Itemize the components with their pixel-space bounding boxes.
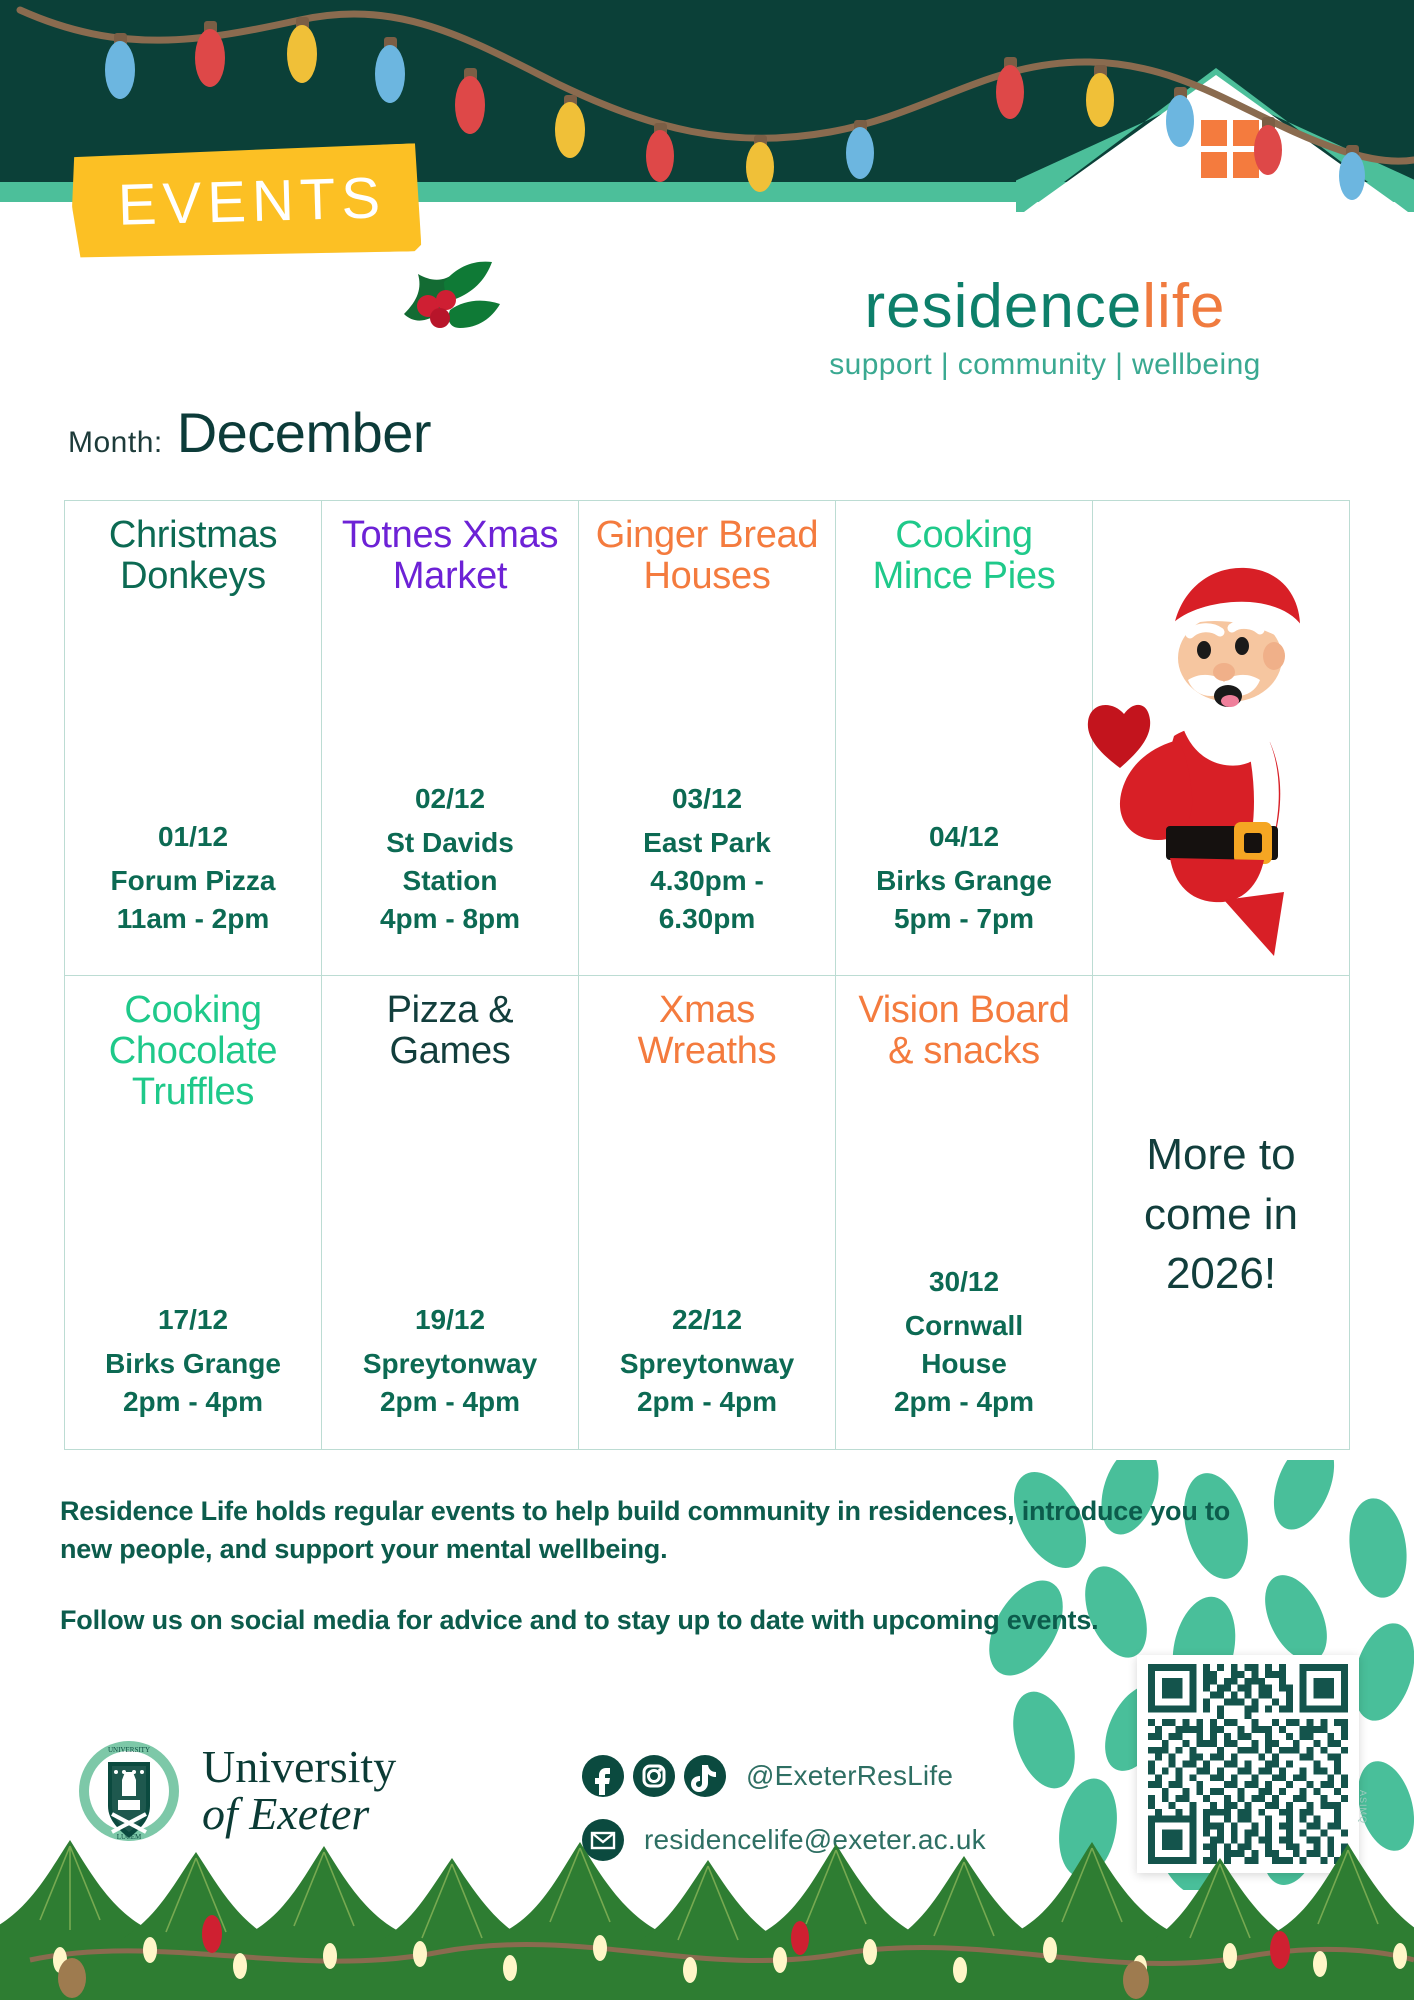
social-handle-row: @ExeterResLife [582, 1755, 986, 1797]
event-location: St Davids [386, 827, 514, 858]
event-details: 19/12 Spreytonway 2pm - 4pm [363, 1301, 537, 1439]
svg-text:UNIVERSITY: UNIVERSITY [108, 1746, 150, 1754]
month-value: December [177, 400, 431, 465]
event-location: Cornwall [905, 1310, 1023, 1341]
event-details: 22/12 Spreytonway 2pm - 4pm [620, 1301, 794, 1439]
event-location-2: Station [403, 865, 498, 896]
event-cell[interactable]: Ginger Bread Houses 03/12 East Park 4.30… [579, 501, 836, 975]
event-details: 02/12 St Davids Station 4pm - 8pm [380, 780, 520, 964]
social-icons [582, 1755, 726, 1797]
santa-icon [1078, 540, 1328, 960]
event-time: 4.30pm - [650, 865, 764, 896]
event-time-2: 6.30pm [659, 903, 756, 934]
event-time: 2pm - 4pm [380, 1386, 520, 1417]
more-to-come-cell: More to come in 2026! [1093, 976, 1349, 1450]
social-handle[interactable]: @ExeterResLife [746, 1760, 953, 1792]
more-to-come-text: More to come in 2026! [1101, 1125, 1341, 1303]
event-date: 02/12 [380, 780, 520, 818]
event-cell[interactable]: Vision Board & snacks 30/12 Cornwall Hou… [836, 976, 1093, 1450]
holly-icon [388, 252, 508, 362]
event-title: Totnes Xmas Market [330, 515, 570, 597]
event-time: 4pm - 8pm [380, 903, 520, 934]
blurb-paragraph-2: Follow us on social media for advice and… [60, 1601, 1250, 1639]
event-cell[interactable]: Cooking Chocolate Truffles 17/12 Birks G… [65, 976, 322, 1450]
event-details: 17/12 Birks Grange 2pm - 4pm [105, 1301, 281, 1439]
logo-residence-text: residence [864, 272, 1142, 341]
facebook-icon[interactable] [582, 1755, 624, 1797]
residence-life-logo: residencelife support | community | well… [760, 276, 1330, 382]
event-details: 30/12 Cornwall House 2pm - 4pm [894, 1263, 1034, 1439]
event-title: Pizza & Games [330, 990, 570, 1072]
event-title: Cooking Mince Pies [844, 515, 1084, 597]
event-location: Forum Pizza [111, 865, 276, 896]
event-date: 19/12 [363, 1301, 537, 1339]
event-cell[interactable]: Cooking Mince Pies 04/12 Birks Grange 5p… [836, 501, 1093, 975]
event-title: Cooking Chocolate Truffles [73, 990, 313, 1113]
event-location: Spreytonway [363, 1348, 537, 1379]
event-details: 01/12 Forum Pizza 11am - 2pm [111, 818, 276, 964]
event-date: 30/12 [894, 1263, 1034, 1301]
event-date: 01/12 [111, 818, 276, 856]
event-cell[interactable]: Xmas Wreaths 22/12 Spreytonway 2pm - 4pm [579, 976, 836, 1450]
events-title: EVENTS [91, 158, 413, 247]
blurb-text: Residence Life holds regular events to h… [60, 1492, 1250, 1639]
event-details: 04/12 Birks Grange 5pm - 7pm [876, 818, 1052, 964]
event-date: 22/12 [620, 1301, 794, 1339]
event-time: 11am - 2pm [117, 903, 270, 934]
month-label: Month: [68, 426, 163, 460]
event-date: 17/12 [105, 1301, 281, 1339]
pine-garland-icon [0, 1810, 1414, 2000]
month-row: Month: December [68, 400, 431, 465]
event-location: Birks Grange [876, 865, 1052, 896]
poster-root: EVENTS Month: December residencelife sup… [0, 0, 1414, 2000]
blurb-paragraph-1: Residence Life holds regular events to h… [60, 1492, 1250, 1569]
event-location: Spreytonway [620, 1348, 794, 1379]
event-date: 04/12 [876, 818, 1052, 856]
event-location-2: House [921, 1348, 1007, 1379]
event-cell[interactable]: Pizza & Games 19/12 Spreytonway 2pm - 4p… [322, 976, 579, 1450]
event-title: Christmas Donkeys [73, 515, 313, 597]
table-row: Cooking Chocolate Truffles 17/12 Birks G… [65, 976, 1349, 1450]
tiktok-icon[interactable] [684, 1755, 726, 1797]
logo-life-text: life [1142, 272, 1225, 341]
event-title: Vision Board & snacks [844, 990, 1084, 1072]
event-details: 03/12 East Park 4.30pm - 6.30pm [643, 780, 771, 964]
event-time: 2pm - 4pm [894, 1386, 1034, 1417]
event-time: 2pm - 4pm [637, 1386, 777, 1417]
event-title: Xmas Wreaths [587, 990, 827, 1072]
instagram-icon[interactable] [633, 1755, 675, 1797]
event-date: 03/12 [643, 780, 771, 818]
event-title: Ginger Bread Houses [587, 515, 827, 597]
university-line-1: University [202, 1744, 396, 1791]
event-cell[interactable]: Christmas Donkeys 01/12 Forum Pizza 11am… [65, 501, 322, 975]
logo-tagline: support | community | wellbeing [760, 348, 1330, 382]
event-time: 5pm - 7pm [894, 903, 1034, 934]
event-location: Birks Grange [105, 1348, 281, 1379]
event-time: 2pm - 4pm [123, 1386, 263, 1417]
event-location: East Park [643, 827, 771, 858]
event-cell[interactable]: Totnes Xmas Market 02/12 St Davids Stati… [322, 501, 579, 975]
